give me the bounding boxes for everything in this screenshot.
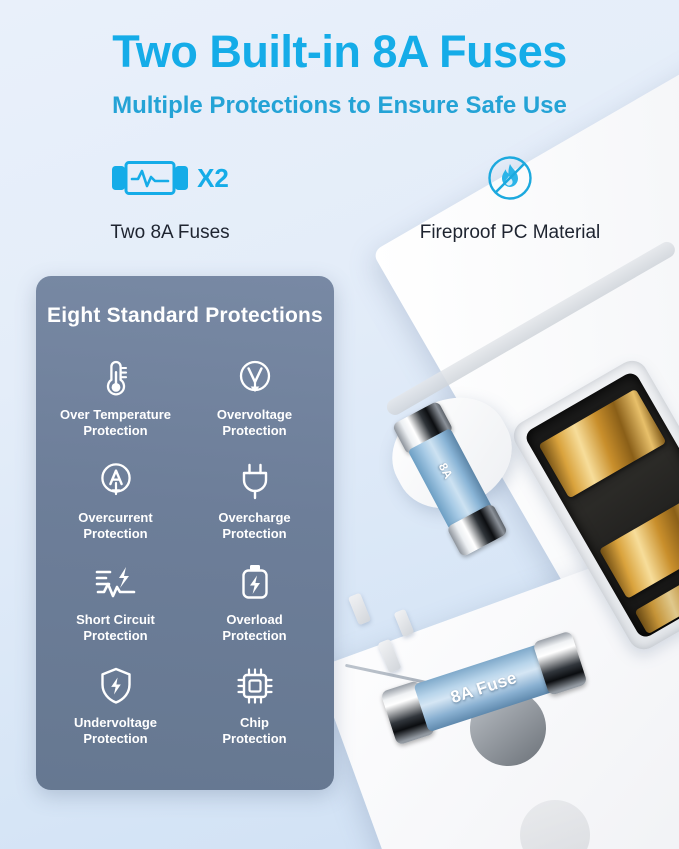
fuse-count-badge: X2 [197, 163, 229, 194]
page-title: Two Built-in 8A Fuses [0, 26, 679, 78]
voltmeter-icon [236, 352, 274, 398]
protection-label: Overcharge Protection [218, 510, 290, 542]
ammeter-icon [97, 455, 135, 501]
protection-label: Undervoltage Protection [74, 715, 157, 747]
chip-icon [235, 660, 275, 706]
protection-label: Overvoltage Protection [217, 407, 292, 439]
protection-item-over-temperature: Over Temperature Protection [46, 352, 185, 439]
feature-label: Fireproof PC Material [420, 222, 601, 244]
page-subtitle: Multiple Protections to Ensure Safe Use [0, 92, 679, 120]
shield-bolt-icon [98, 660, 134, 706]
protections-panel: Eight Standard Protections Over Temperat… [36, 276, 334, 790]
panel-title: Eight Standard Protections [36, 304, 334, 328]
thermometer-icon [99, 352, 133, 398]
feature-row: X2 Two 8A Fuses Fireproof PC Material [40, 150, 640, 244]
feature-label: Two 8A Fuses [110, 222, 229, 244]
protection-label: Chip Protection [222, 715, 286, 747]
protection-label: Overcurrent Protection [78, 510, 152, 542]
protections-grid: Over Temperature Protection Overvoltage … [46, 352, 324, 747]
battery-bolt-icon [239, 557, 271, 603]
protection-label: Over Temperature Protection [60, 407, 171, 439]
protection-item-undervoltage: Undervoltage Protection [46, 660, 185, 747]
protection-item-overload: Overload Protection [185, 557, 324, 644]
plug-icon [238, 455, 272, 501]
no-fire-icon [485, 153, 535, 203]
no-fire-icon-group [485, 150, 535, 206]
protection-item-overvoltage: Overvoltage Protection [185, 352, 324, 439]
protection-item-chip: Chip Protection [185, 660, 324, 747]
feature-two-fuses: X2 Two 8A Fuses [55, 150, 285, 244]
protection-item-short-circuit: Short Circuit Protection [46, 557, 185, 644]
protection-item-overcharge: Overcharge Protection [185, 455, 324, 542]
protection-item-overcurrent: Overcurrent Protection [46, 455, 185, 542]
short-circuit-icon [93, 557, 139, 603]
protection-label: Overload Protection [222, 612, 286, 644]
fuse-icon [111, 158, 189, 198]
protection-label: Short Circuit Protection [76, 612, 155, 644]
fuse-icon-group: X2 [111, 150, 229, 206]
feature-fireproof: Fireproof PC Material [395, 150, 625, 244]
